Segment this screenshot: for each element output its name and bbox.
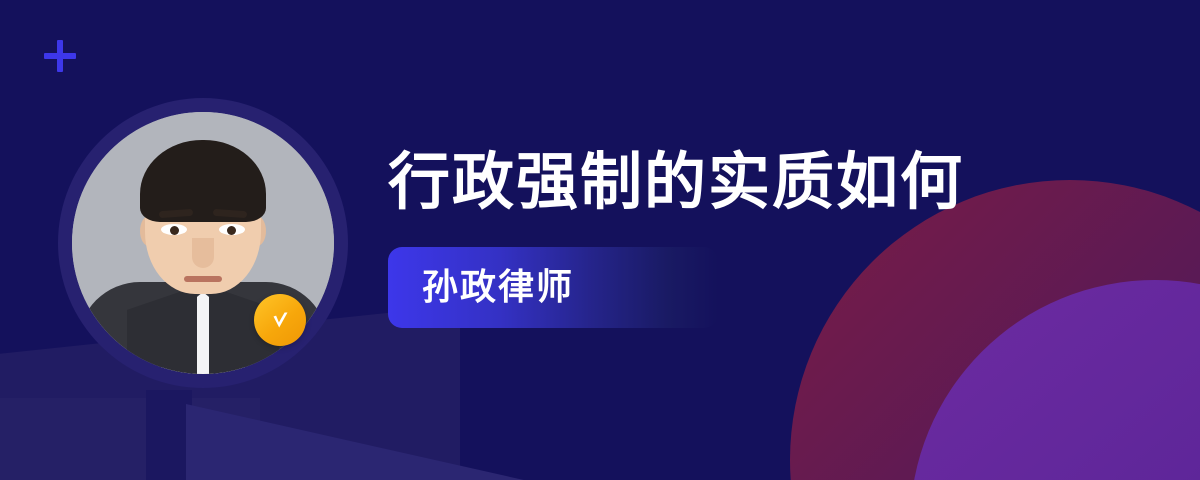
portrait-pupil-right xyxy=(227,226,236,235)
avatar xyxy=(58,98,348,388)
left-block-shape xyxy=(0,398,260,480)
video-cover-banner: 行政强制的实质如何 孙政律师 xyxy=(0,0,1200,480)
presenter-name-label: 孙政律师 xyxy=(422,266,574,307)
portrait-pupil-left xyxy=(170,226,179,235)
presenter-name-badge[interactable]: 孙政律师 xyxy=(388,247,718,328)
verified-check-icon xyxy=(254,294,306,346)
content-block: 行政强制的实质如何 孙政律师 xyxy=(388,150,1148,328)
wedge-dark-shape xyxy=(146,390,192,480)
wedge-light-shape xyxy=(186,404,586,480)
plus-icon xyxy=(44,40,76,72)
page-title: 行政强制的实质如何 xyxy=(388,150,1148,217)
portrait-mouth xyxy=(184,276,222,282)
portrait-nose xyxy=(192,238,214,268)
